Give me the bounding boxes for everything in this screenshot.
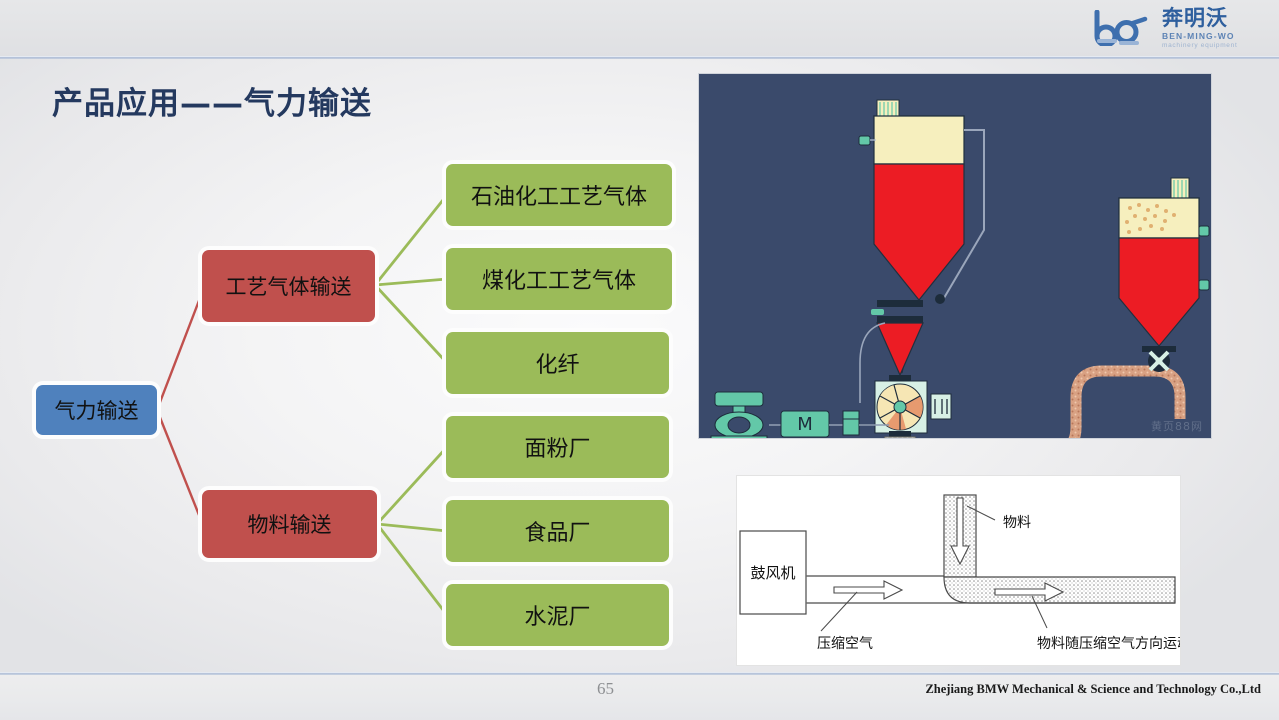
mindmap-leaf-1-2-label: 煤化工工艺气体: [482, 263, 636, 295]
connector-branch1-leaf1: [375, 195, 447, 285]
mindmap-leaf-1-3-label: 化纤: [535, 347, 579, 379]
svg-text:M: M: [797, 414, 813, 435]
bo-monogram-icon: [1093, 10, 1155, 46]
mindmap-node-leaf-petrochemical-gas[interactable]: 石油化工工艺气体: [446, 164, 672, 226]
logo-tagline: machinery equipment: [1162, 43, 1237, 50]
connector-branch2-leaf2: [377, 524, 447, 531]
mindmap-node-branch-process-gas[interactable]: 工艺气体输送: [202, 250, 375, 322]
company-footer-text: Zhejiang BMW Mechanical & Science and Te…: [925, 682, 1261, 697]
header-band: [0, 0, 1279, 57]
compressed-air-label: 压缩空气: [817, 636, 873, 652]
schematic-drawing: M: [699, 74, 1211, 438]
mindmap-leaf-2-3-label: 水泥厂: [524, 599, 590, 631]
page-number: 65: [597, 679, 614, 699]
pneumatic-conveying-schematic-image: M: [699, 74, 1211, 438]
mindmap-node-root-label: 气力输送: [55, 395, 139, 425]
connector-root-to-branch-1: [157, 285, 205, 410]
connector-branch1-leaf2: [375, 279, 447, 285]
mindmap-node-branch-1-label: 工艺气体输送: [226, 271, 352, 301]
mindmap-node-root[interactable]: 气力输送: [36, 385, 157, 435]
material-label: 物料: [1003, 515, 1031, 531]
connector-branch1-leaf3: [375, 285, 447, 363]
logo-english-name: BEN-MING-WO: [1162, 32, 1237, 41]
mindmap-node-leaf-food-factory[interactable]: 食品厂: [446, 500, 669, 562]
mindmap-leaf-2-1-label: 面粉厂: [524, 431, 590, 463]
image-watermark: 黄页88网: [1151, 418, 1203, 434]
blower-label: 鼓风机: [750, 564, 795, 582]
principle-drawing: 鼓风机 物料 压缩空气 物料随压缩空气方向运动: [737, 476, 1180, 665]
mindmap-node-branch-2-label: 物料输送: [248, 509, 332, 539]
logo-wordmark: 奔明沃 BEN-MING-WO machinery equipment: [1162, 7, 1237, 49]
mindmap-leaf-1-1-label: 石油化工工艺气体: [471, 179, 647, 211]
conveying-principle-diagram: 鼓风机 物料 压缩空气 物料随压缩空气方向运动: [737, 476, 1180, 665]
header-divider: [0, 56, 1279, 59]
flow-label: 物料随压缩空气方向运动: [1037, 636, 1180, 652]
company-logo: 奔明沃 BEN-MING-WO machinery equipment: [1093, 3, 1261, 53]
mindmap-leaf-2-2-label: 食品厂: [524, 515, 590, 547]
connector-root-to-branch-2: [157, 410, 205, 530]
connector-branch2-leaf1: [377, 447, 447, 524]
slide: 奔明沃 BEN-MING-WO machinery equipment 产品应用…: [0, 0, 1279, 720]
mindmap-node-branch-material[interactable]: 物料输送: [202, 490, 377, 558]
application-mindmap: 气力输送 工艺气体输送 物料输送 石油化工工艺气体 煤化工工艺气体 化纤 面粉厂…: [0, 60, 700, 670]
mindmap-node-leaf-coal-chemical-gas[interactable]: 煤化工工艺气体: [446, 248, 672, 310]
mindmap-node-leaf-flour-mill[interactable]: 面粉厂: [446, 416, 669, 478]
mindmap-node-leaf-chemical-fiber[interactable]: 化纤: [446, 332, 669, 394]
mindmap-node-leaf-cement-plant[interactable]: 水泥厂: [446, 584, 669, 646]
connector-branch2-leaf3: [377, 524, 447, 615]
logo-chinese-name: 奔明沃: [1162, 8, 1237, 29]
